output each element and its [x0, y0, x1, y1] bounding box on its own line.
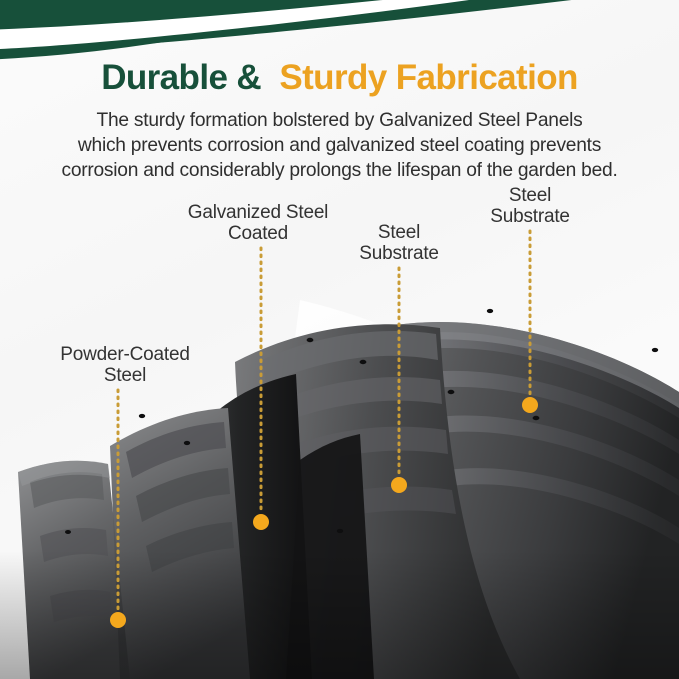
callout-line-2: Substrate: [299, 243, 499, 264]
callout-line-1: Galvanized Steel: [133, 202, 383, 223]
callout-label-powder-coated-steel: Powder-Coated Steel: [0, 344, 250, 387]
callout-line-1: Steel: [430, 185, 630, 206]
callout-line-2: Steel: [0, 365, 250, 386]
photo-bottom-fade: [0, 550, 679, 679]
page-title-orange: Sturdy Fabrication: [279, 58, 577, 97]
callout-label-steel-substrate-right: Steel Substrate: [430, 185, 630, 228]
callout-label-steel-substrate-center: Steel Substrate: [299, 222, 499, 265]
page-title: Durable & Sturdy Fabrication: [0, 60, 679, 97]
body-line-1: The sturdy formation bolstered by Galvan…: [4, 109, 675, 134]
page-title-green: Durable &: [101, 58, 261, 97]
callout-line-2: Substrate: [430, 206, 630, 227]
body-line-2: which prevents corrosion and galvanized …: [4, 134, 675, 159]
body-line-3: corrosion and considerably prolongs the …: [4, 159, 675, 184]
callout-line-1: Powder-Coated: [0, 344, 250, 365]
body-paragraph: The sturdy formation bolstered by Galvan…: [4, 109, 675, 184]
ribbon-green-band: [0, 0, 620, 54]
ribbon-white-stripe: [0, 0, 604, 50]
ribbon-green-shape: [0, 0, 679, 60]
infographic-canvas: Durable & Sturdy Fabrication The sturdy …: [0, 0, 679, 679]
